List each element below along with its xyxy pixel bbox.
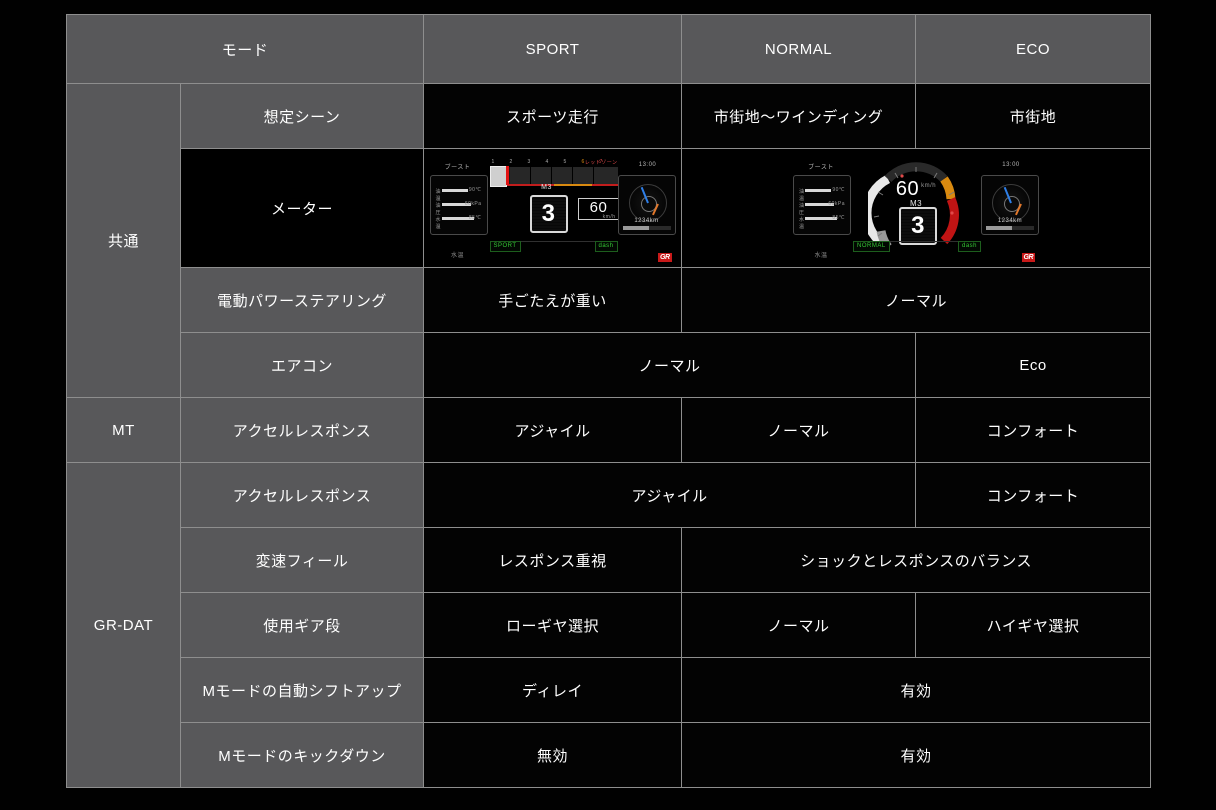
cell-ac-sport-normal: ノーマル [424, 333, 916, 398]
cell-dat-accel-sport-normal: アジャイル [424, 463, 916, 528]
sport-bar-oil-press: 油圧 60kPa [436, 202, 482, 207]
normal-meter-display: ブースト 油温 90℃ 油圧 60kPa [682, 149, 1150, 267]
compass-icon [629, 184, 667, 222]
table-row: メーター ブースト 油温 90℃ [67, 149, 1151, 268]
sport-bar-oil-temp: 油温 90℃ [436, 188, 482, 193]
sport-redzone-label: レッドゾーン [585, 159, 618, 166]
compass-icon-normal [992, 184, 1030, 222]
sport-left-panel-caption: ブースト [430, 162, 486, 171]
sport-tick-2: 2 [510, 159, 513, 165]
sport-bar-oil-press-label: 油圧 [436, 202, 440, 207]
sport-bar-oil-temp-label: 油温 [436, 188, 440, 193]
page-root: モード SPORT NORMAL ECO 共通 想定シーン スポーツ走行 市街地… [0, 0, 1216, 810]
table-body: モード SPORT NORMAL ECO 共通 想定シーン スポーツ走行 市街地… [67, 15, 1151, 788]
cell-meter-normal-eco: ブースト 油温 90℃ 油圧 60kPa [682, 149, 1151, 268]
normal-bar-oil-press-label: 油圧 [799, 202, 803, 207]
normal-bar-oil-press: 油圧 60kPa [799, 202, 845, 207]
group-label-mt: MT [67, 398, 181, 463]
row-label-ac: エアコン [181, 333, 424, 398]
sport-tick-3: 3 [528, 159, 531, 165]
sport-speed-display: 60 km/h [578, 198, 620, 220]
sport-trip-value: 1234km [619, 218, 675, 224]
normal-bar-oil-temp-label: 油温 [799, 188, 803, 193]
normal-speed-display: 60km/h [868, 179, 964, 199]
normal-bar-oil-press-value: 60kPa [828, 201, 845, 207]
table-row: 使用ギア段 ローギヤ選択 ノーマル ハイギヤ選択 [67, 593, 1151, 658]
normal-gear-value: 3 [901, 214, 935, 238]
cell-gear-usage-normal: ノーマル [682, 593, 916, 658]
sport-status-bar: SPORT dash [490, 241, 618, 251]
cell-scene-normal: 市街地〜ワインディング [682, 84, 916, 149]
table-row: MT アクセルレスポンス アジャイル ノーマル コンフォート [67, 398, 1151, 463]
group-label-grdat: GR-DAT [67, 463, 181, 788]
sport-dash-badge: dash [595, 241, 618, 252]
header-col-eco: ECO [916, 15, 1151, 84]
table-row: 電動パワーステアリング 手ごたえが重い ノーマル [67, 268, 1151, 333]
row-label-gear-usage: 使用ギア段 [181, 593, 424, 658]
sport-speed-value: 60 [579, 200, 619, 215]
cell-mt-accel-normal: ノーマル [682, 398, 916, 463]
table-row: 変速フィール レスポンス重視 ショックとレスポンスのバランス [67, 528, 1151, 593]
table-header-row: モード SPORT NORMAL ECO [67, 15, 1151, 84]
group-label-common: 共通 [67, 84, 181, 398]
sport-gear-mode-label: M3 [530, 184, 564, 191]
cell-ac-eco: Eco [916, 333, 1151, 398]
sport-trip-bar [623, 226, 671, 230]
sport-bar-water-temp-label: 水温 [436, 216, 440, 221]
row-label-kickdown: Mモードのキックダウン [181, 723, 424, 788]
sport-bar-water-temp-value: 85℃ [469, 215, 482, 221]
normal-bar-oil-temp: 油温 90℃ [799, 188, 845, 193]
row-label-auto-shiftup: Mモードの自動シフトアップ [181, 658, 424, 723]
cell-meter-sport: ブースト 油温 90℃ 油圧 60kPa [424, 149, 682, 268]
cell-shift-feel-sport: レスポンス重視 [424, 528, 682, 593]
normal-trip-bar [986, 226, 1034, 230]
normal-bar-water-temp-value: 85℃ [832, 215, 845, 221]
cell-kickdown-sport: 無効 [424, 723, 682, 788]
sport-bar-oil-press-value: 60kPa [465, 201, 482, 207]
sport-tacho-bar-fill [490, 166, 507, 187]
cell-shift-feel-normal-eco: ショックとレスポンスのバランス [682, 528, 1151, 593]
gr-logo-normal: GR [1022, 253, 1036, 262]
normal-trip-value: 1234km [982, 218, 1038, 224]
normal-speed-value: 60 [896, 178, 919, 200]
cell-scene-sport: スポーツ走行 [424, 84, 682, 149]
cell-dat-accel-eco: コンフォート [916, 463, 1151, 528]
sport-right-info-panel: 1234km [618, 175, 676, 235]
sport-left-panel-footer: 水温 [430, 250, 486, 259]
header-mode-label: モード [67, 15, 424, 84]
row-label-meter: メーター [181, 149, 424, 268]
table-row: エアコン ノーマル Eco [67, 333, 1151, 398]
cell-auto-shiftup-sport: ディレイ [424, 658, 682, 723]
drive-mode-comparison-table: モード SPORT NORMAL ECO 共通 想定シーン スポーツ走行 市街地… [66, 14, 1151, 788]
normal-bar-oil-temp-value: 90℃ [832, 187, 845, 193]
sport-tick-4: 4 [546, 159, 549, 165]
sport-tick-5: 5 [564, 159, 567, 165]
normal-left-info-panel: 油温 90℃ 油圧 60kPa 水温 [793, 175, 851, 235]
sport-tacho-ticks: 1 2 3 4 5 6 7 レッドゾーン [490, 159, 618, 167]
sport-left-info-panel: 油温 90℃ 油圧 60kPa 水温 [430, 175, 488, 235]
normal-bar-water-temp: 水温 85℃ [799, 216, 845, 221]
normal-mode-badge: NORMAL [853, 241, 890, 252]
sport-clock-label: 13:00 [620, 162, 676, 168]
normal-status-bar: NORMAL dash [853, 241, 981, 251]
cell-auto-shiftup-normal-eco: 有効 [682, 658, 1151, 723]
normal-bar-water-temp-label: 水温 [799, 216, 803, 221]
normal-left-panel-footer: 水温 [793, 250, 849, 259]
sport-meter-display: ブースト 油温 90℃ 油圧 60kPa [424, 149, 681, 267]
sport-speed-unit: km/h [603, 214, 616, 220]
sport-bar-water-temp: 水温 85℃ [436, 216, 482, 221]
sport-gear-value: 3 [532, 202, 566, 226]
table-row: Mモードのキックダウン 無効 有効 [67, 723, 1151, 788]
normal-gear-indicator: 3 [899, 207, 937, 245]
table-row: Mモードの自動シフトアップ ディレイ 有効 [67, 658, 1151, 723]
normal-right-info-panel: 1234km [981, 175, 1039, 235]
header-col-normal: NORMAL [682, 15, 916, 84]
sport-gear-indicator: 3 [530, 195, 568, 233]
row-label-mt-accel: アクセルレスポンス [181, 398, 424, 463]
row-label-scene: 想定シーン [181, 84, 424, 149]
cell-gear-usage-eco: ハイギヤ選択 [916, 593, 1151, 658]
cell-kickdown-normal-eco: 有効 [682, 723, 1151, 788]
sport-tick-1: 1 [492, 159, 495, 165]
table-row: 共通 想定シーン スポーツ走行 市街地〜ワインディング 市街地 [67, 84, 1151, 149]
table-row: GR-DAT アクセルレスポンス アジャイル コンフォート [67, 463, 1151, 528]
cell-eps-normal-eco: ノーマル [682, 268, 1151, 333]
header-col-sport: SPORT [424, 15, 682, 84]
normal-speed-unit: km/h [921, 183, 936, 189]
cell-gear-usage-sport: ローギヤ選択 [424, 593, 682, 658]
cell-eps-sport: 手ごたえが重い [424, 268, 682, 333]
sport-tacho-cursor [506, 166, 509, 185]
row-label-shift-feel: 変速フィール [181, 528, 424, 593]
sport-bar-oil-temp-value: 90℃ [469, 187, 482, 193]
normal-dash-badge: dash [958, 241, 981, 252]
cell-mt-accel-sport: アジャイル [424, 398, 682, 463]
sport-mode-badge: SPORT [490, 241, 521, 252]
row-label-eps: 電動パワーステアリング [181, 268, 424, 333]
gr-logo: GR [658, 253, 672, 262]
cell-mt-accel-eco: コンフォート [916, 398, 1151, 463]
cell-scene-eco: 市街地 [916, 84, 1151, 149]
row-label-dat-accel: アクセルレスポンス [181, 463, 424, 528]
normal-left-panel-caption: ブースト [793, 162, 849, 171]
normal-clock-label: 13:00 [983, 162, 1039, 168]
